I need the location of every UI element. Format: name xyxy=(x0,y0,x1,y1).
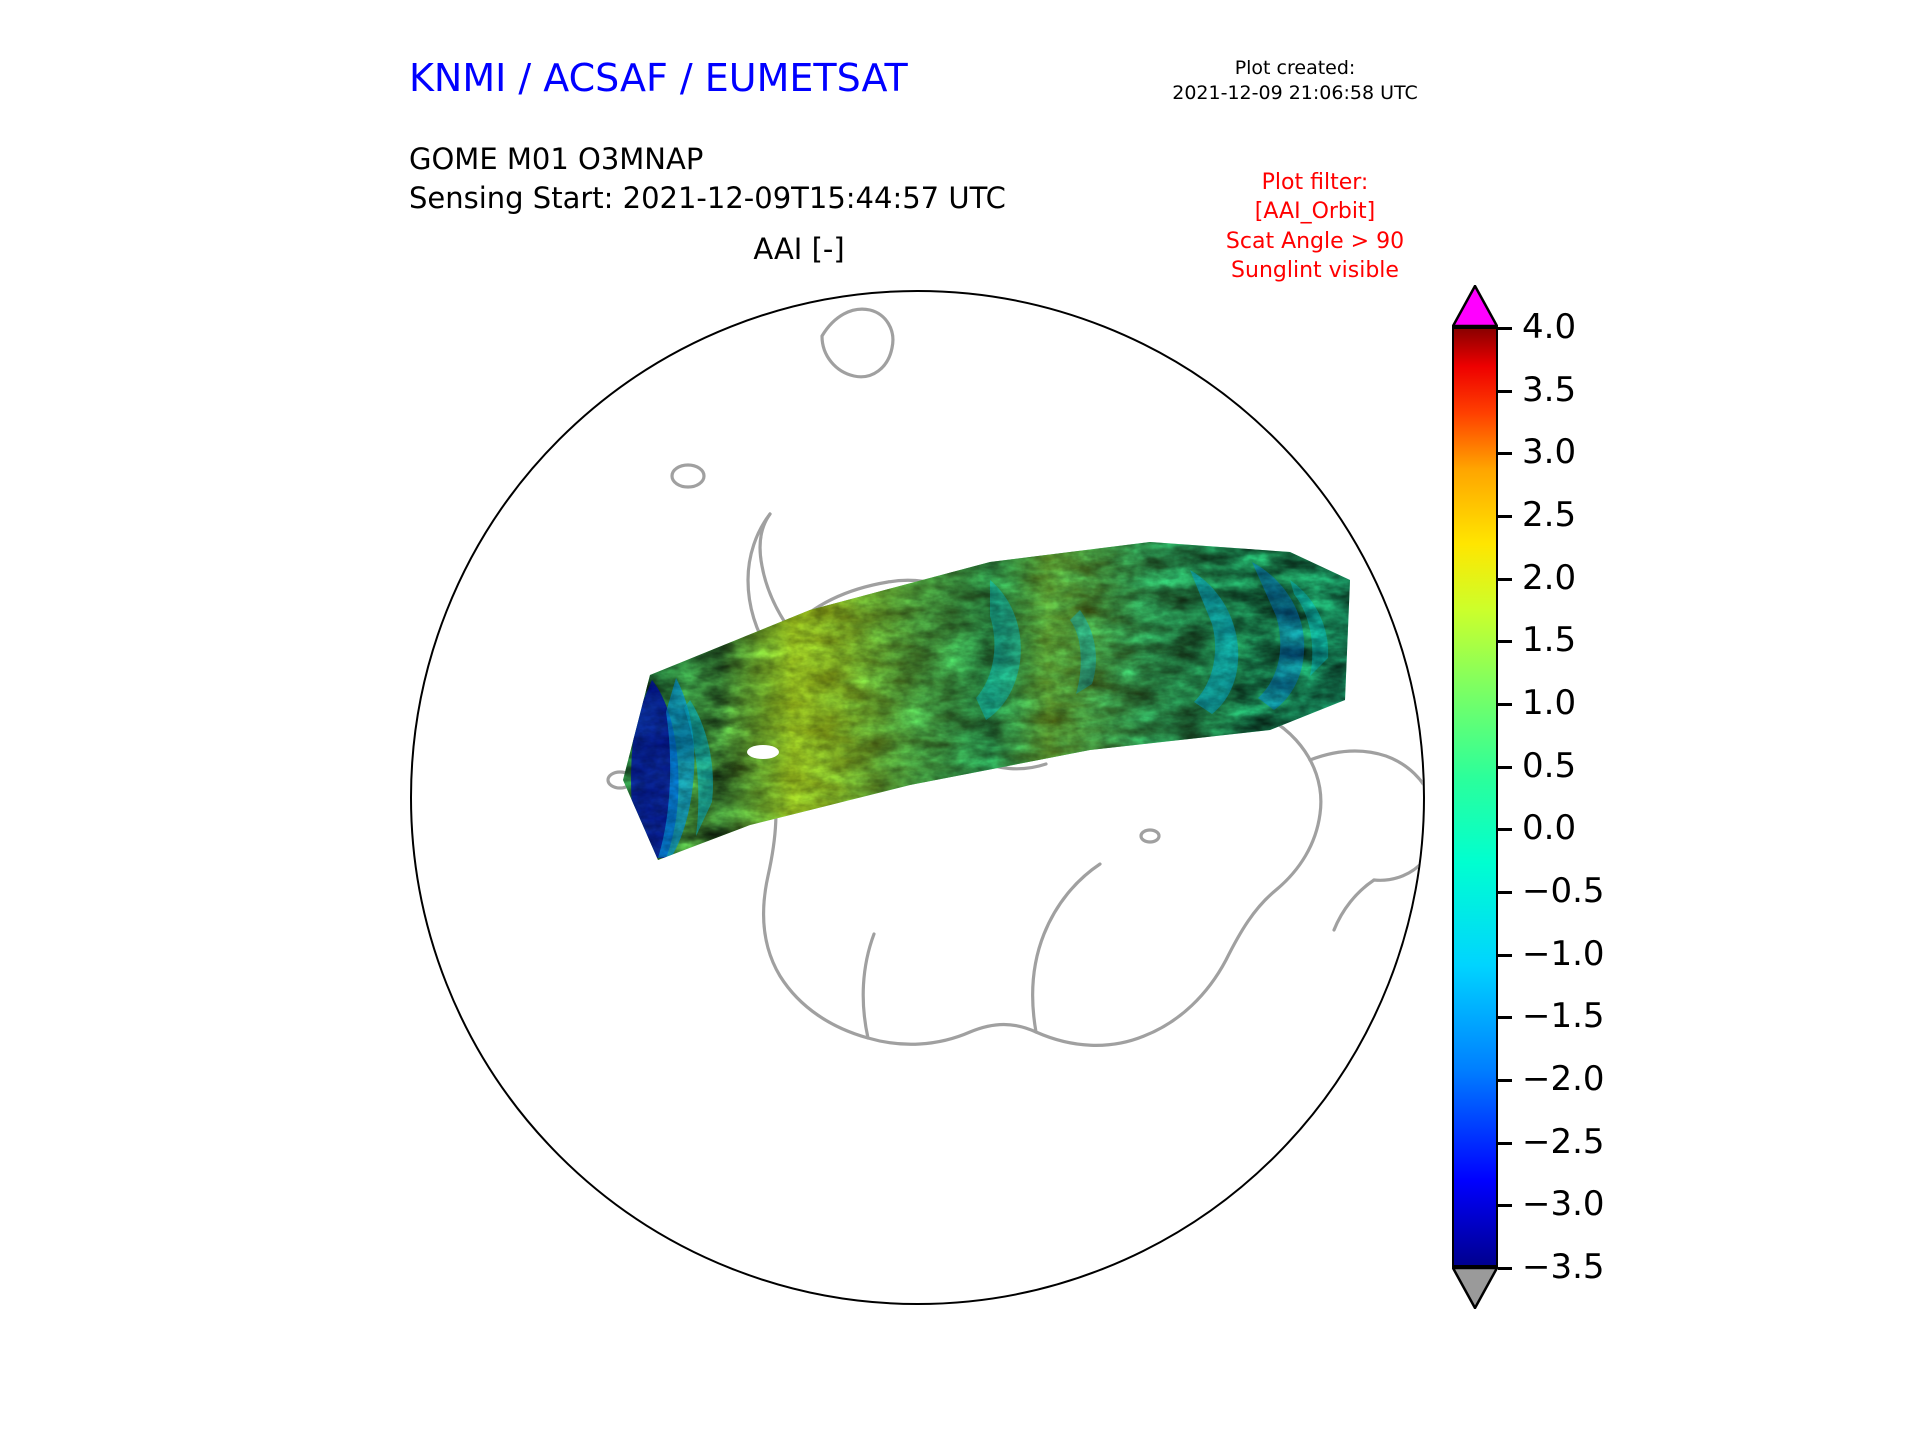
map-graphics xyxy=(390,280,1460,1330)
colorbar-tick-mark xyxy=(1498,1204,1512,1207)
colorbar-tick-mark xyxy=(1498,703,1512,706)
colorbar-tick-mark xyxy=(1498,828,1512,831)
plot-filter-line: [AAI_Orbit] xyxy=(1170,197,1460,226)
colorbar-tick-mark xyxy=(1498,766,1512,769)
colorbar-tick-label: −1.0 xyxy=(1522,934,1605,974)
dataset-info-block: GOME M01 O3MNAP Sensing Start: 2021-12-0… xyxy=(409,140,1006,219)
colorbar-tick-mark xyxy=(1498,1079,1512,1082)
plot-filter-block: Plot filter: [AAI_Orbit] Scat Angle > 90… xyxy=(1170,168,1460,285)
colorbar-tick-mark xyxy=(1498,515,1512,518)
plot-created-block: Plot created: 2021-12-09 21:06:58 UTC xyxy=(1150,56,1440,107)
colorbar-tick-mark xyxy=(1498,891,1512,894)
colorbar-tick-mark xyxy=(1498,390,1512,393)
plot-filter-heading: Plot filter: xyxy=(1170,168,1460,197)
colorbar-tick-label: −2.5 xyxy=(1522,1122,1605,1162)
colorbar-tick-label: −0.5 xyxy=(1522,871,1605,911)
colorbar-tick-label: −1.5 xyxy=(1522,996,1605,1036)
colorbar-tick-mark xyxy=(1498,954,1512,957)
colorbar-tick-label: 1.0 xyxy=(1522,683,1576,723)
data-swath xyxy=(590,520,1390,880)
colorbar-over-range-outline xyxy=(1452,285,1498,327)
colorbar-tick-label: 4.0 xyxy=(1522,307,1576,347)
colorbar-tick-mark xyxy=(1498,578,1512,581)
sensing-start: Sensing Start: 2021-12-09T15:44:57 UTC xyxy=(409,179,1006,218)
colorbar-tick-mark xyxy=(1498,1142,1512,1145)
colorbar-tick-label: −2.0 xyxy=(1522,1059,1605,1099)
plot-created-timestamp: 2021-12-09 21:06:58 UTC xyxy=(1150,81,1440,106)
colorbar-tick-label: 2.0 xyxy=(1522,558,1576,598)
colorbar-gradient xyxy=(1452,327,1498,1267)
colorbar-under-range-outline xyxy=(1452,1267,1498,1309)
colorbar-tick-mark xyxy=(1498,640,1512,643)
colorbar-tick-mark xyxy=(1498,1016,1512,1019)
colorbar-tick-mark xyxy=(1498,327,1512,330)
plot-filter-line: Scat Angle > 90 xyxy=(1170,227,1460,256)
colorbar-tick-label: −3.0 xyxy=(1522,1184,1605,1224)
colorbar-tick-label: 1.5 xyxy=(1522,620,1576,660)
colorbar-tick-label: 3.5 xyxy=(1522,370,1576,410)
colorbar-tick-mark xyxy=(1498,1267,1512,1270)
colorbar-tick-label: 2.5 xyxy=(1522,495,1576,535)
colorbar-tick-label: −3.5 xyxy=(1522,1247,1605,1287)
colorbar-tick-label: 0.0 xyxy=(1522,808,1576,848)
colorbar-tick-label: 0.5 xyxy=(1522,746,1576,786)
map-plot-area xyxy=(390,280,1460,1330)
colorbar-tick-label: 3.0 xyxy=(1522,432,1576,472)
dataset-name: GOME M01 O3MNAP xyxy=(409,140,1006,179)
colorbar-tick-mark xyxy=(1498,452,1512,455)
page-title: AAI [-] xyxy=(409,232,1189,266)
organization-title: KNMI / ACSAF / EUMETSAT xyxy=(409,56,908,100)
plot-created-label: Plot created: xyxy=(1150,56,1440,81)
